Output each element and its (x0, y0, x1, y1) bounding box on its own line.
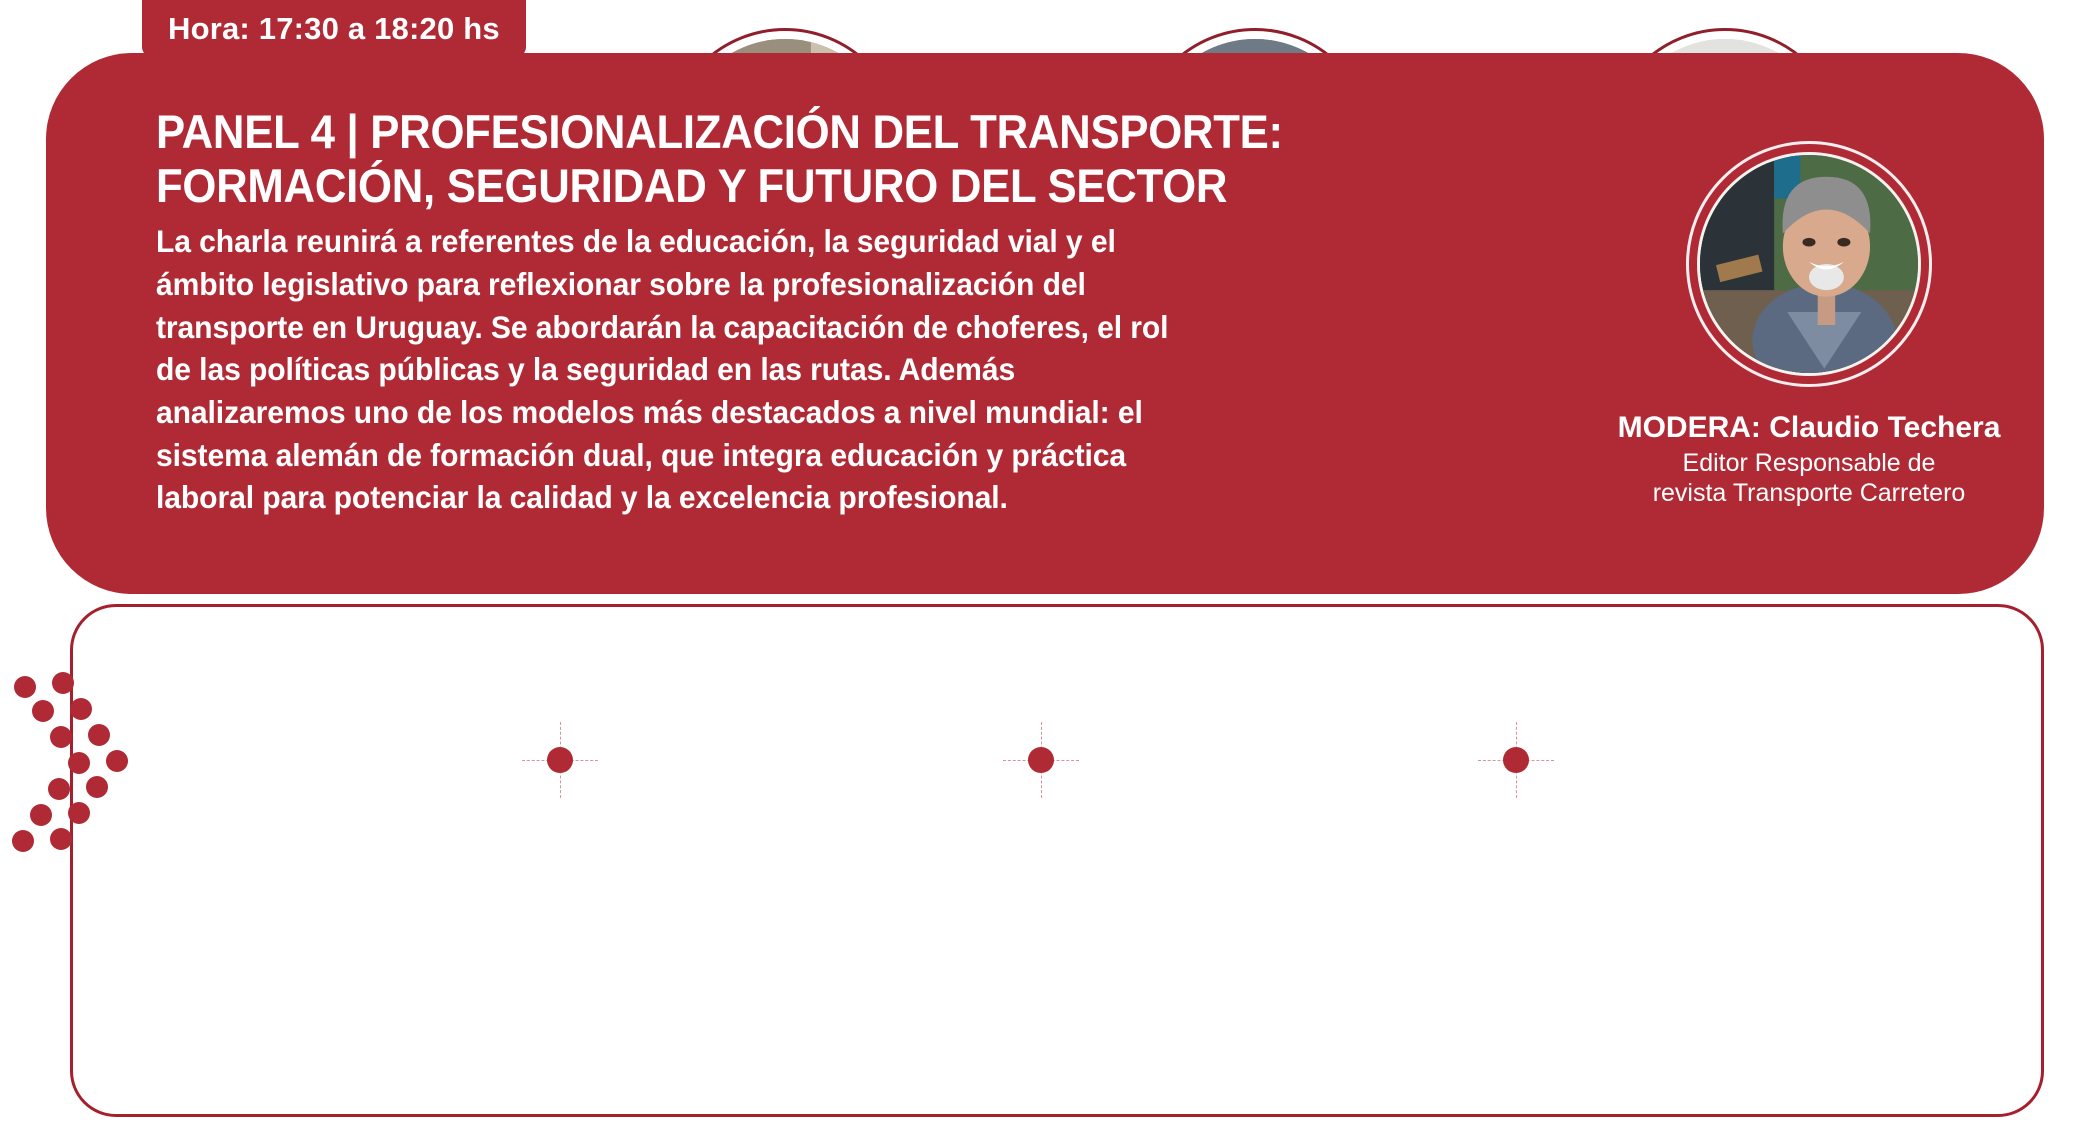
panel-description-card: PANEL 4 | PROFESIONALIZACIÓN DEL TRANSPO… (46, 53, 2044, 594)
hora-badge: Hora: 17:30 a 18:20 hs (142, 0, 526, 57)
panel-description-line-2: ámbito legislativo para reflexionar sobr… (156, 263, 1488, 306)
page-title-line-2: FORMACIÓN, SEGURIDAD Y FUTURO DEL SECTOR (156, 159, 1453, 213)
crosshair-dot-icon (1478, 722, 1554, 798)
moderator-role: Editor Responsable de revista Transporte… (1574, 448, 2044, 508)
moderator-portrait-photo-icon (1697, 152, 1921, 376)
moderator-block: MODERA: Claudio Techera Editor Responsab… (1574, 141, 2044, 508)
panel-description-line-3: transporte en Uruguay. Se abordarán la c… (156, 306, 1488, 349)
panel-description-line-6: sistema alemán de formación dual, que in… (156, 434, 1488, 477)
page-title-line-1: PANEL 4 | PROFESIONALIZACIÓN DEL TRANSPO… (156, 105, 1453, 159)
panel-description-line-5: analizaremos uno de los modelos más dest… (156, 391, 1488, 434)
diagonal-dot-pattern-icon (4, 658, 124, 848)
panel-description-line-1: La charla reunirá a referentes de la edu… (156, 220, 1488, 263)
panel-poster: Hora: 17:30 a 18:20 hs PANEL 4 | PROFESI… (0, 0, 2090, 1141)
page-title: PANEL 4 | PROFESIONALIZACIÓN DEL TRANSPO… (156, 105, 1453, 212)
crosshair-dot-icon (1003, 722, 1079, 798)
panel-description-line-7: laboral para potenciar la calidad y la e… (156, 476, 1488, 519)
hora-badge-label: Hora: 17:30 a 18:20 hs (168, 13, 500, 44)
moderator-role-line-1: Editor Responsable de (1574, 448, 2044, 478)
moderator-avatar (1686, 141, 1932, 387)
panel-text-column: PANEL 4 | PROFESIONALIZACIÓN DEL TRANSPO… (156, 105, 1551, 519)
crosshair-dot-icon (522, 722, 598, 798)
speakers-card (70, 604, 2044, 1117)
moderator-name: MODERA: Claudio Techera (1574, 411, 2044, 446)
moderator-role-line-2: revista Transporte Carretero (1574, 478, 2044, 508)
panel-description-line-4: de las políticas públicas y la seguridad… (156, 348, 1488, 391)
panel-description-text: La charla reunirá a referentes de la edu… (156, 220, 1488, 519)
